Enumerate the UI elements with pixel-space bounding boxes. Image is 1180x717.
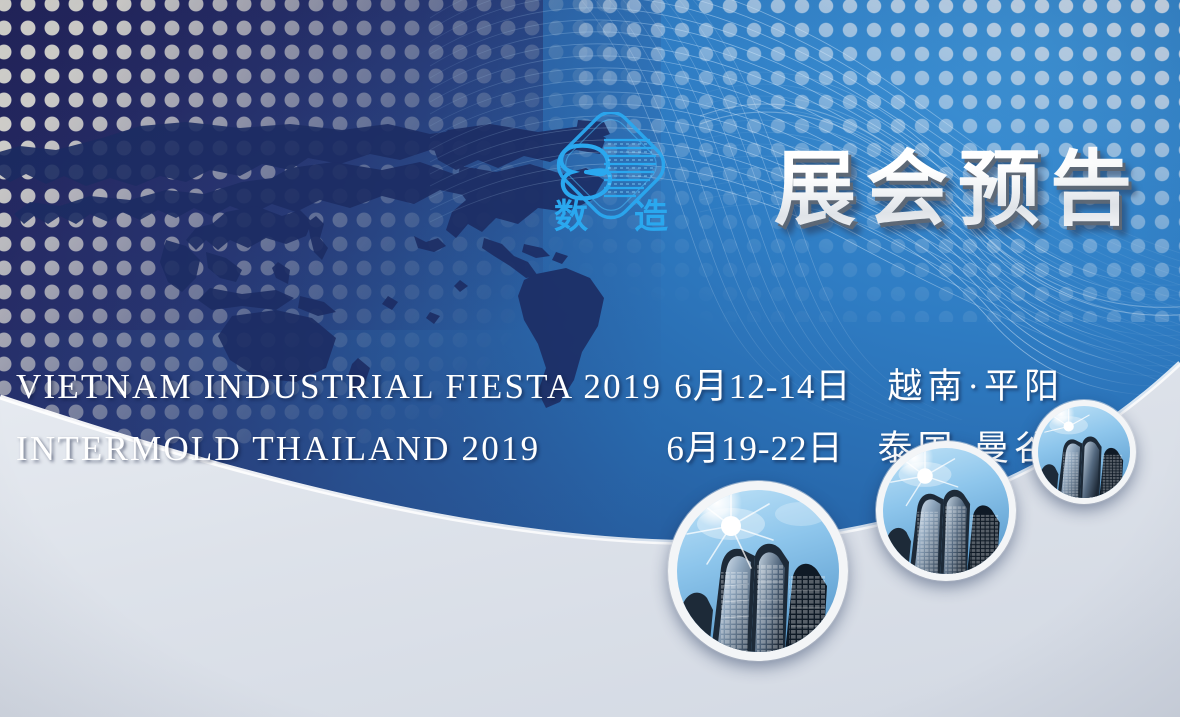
exhibition-preview-banner: 数 造 展会预告 VIETNAM INDUSTRIAL FIESTA 2019 … xyxy=(0,0,1180,717)
vignette-overlay xyxy=(0,0,1180,717)
